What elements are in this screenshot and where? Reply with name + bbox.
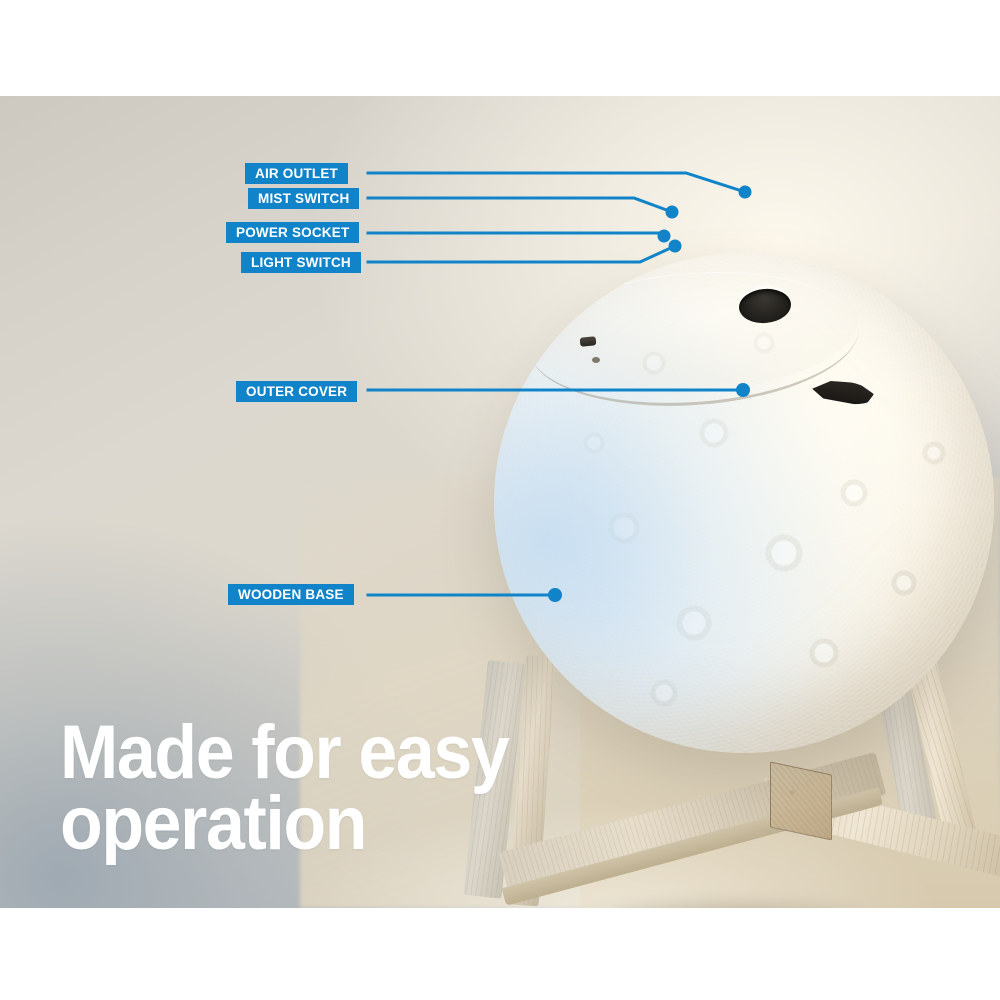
headline-line-1: Made for easy bbox=[60, 718, 508, 789]
callout-dot-wooden-base[interactable] bbox=[548, 588, 562, 602]
headline-line-2: operation bbox=[60, 789, 508, 860]
callout-label-mist-switch[interactable]: MIST SWITCH bbox=[248, 188, 359, 209]
callout-dot-air-outlet[interactable] bbox=[739, 186, 752, 199]
callout-dot-mist-switch[interactable] bbox=[666, 206, 679, 219]
leader-line-mist-switch bbox=[368, 198, 672, 212]
leader-line-power-socket bbox=[368, 233, 664, 236]
leader-line-light-switch bbox=[368, 246, 675, 262]
callout-label-power-socket[interactable]: POWER SOCKET bbox=[226, 222, 359, 243]
product-infographic: AIR OUTLET MIST SWITCH POWER SOCKET LIGH… bbox=[0, 0, 1000, 1000]
callout-label-light-switch[interactable]: LIGHT SWITCH bbox=[241, 252, 361, 273]
callout-label-wooden-base[interactable]: WOODEN BASE bbox=[228, 584, 354, 605]
leader-line-air-outlet bbox=[368, 173, 745, 192]
callout-label-air-outlet[interactable]: AIR OUTLET bbox=[245, 163, 348, 184]
callout-dot-light-switch[interactable] bbox=[669, 240, 682, 253]
callout-dot-power-socket[interactable] bbox=[658, 230, 671, 243]
headline: Made for easy operation bbox=[60, 718, 508, 859]
callout-dot-outer-cover[interactable] bbox=[736, 383, 750, 397]
callout-label-outer-cover[interactable]: OUTER COVER bbox=[236, 381, 357, 402]
